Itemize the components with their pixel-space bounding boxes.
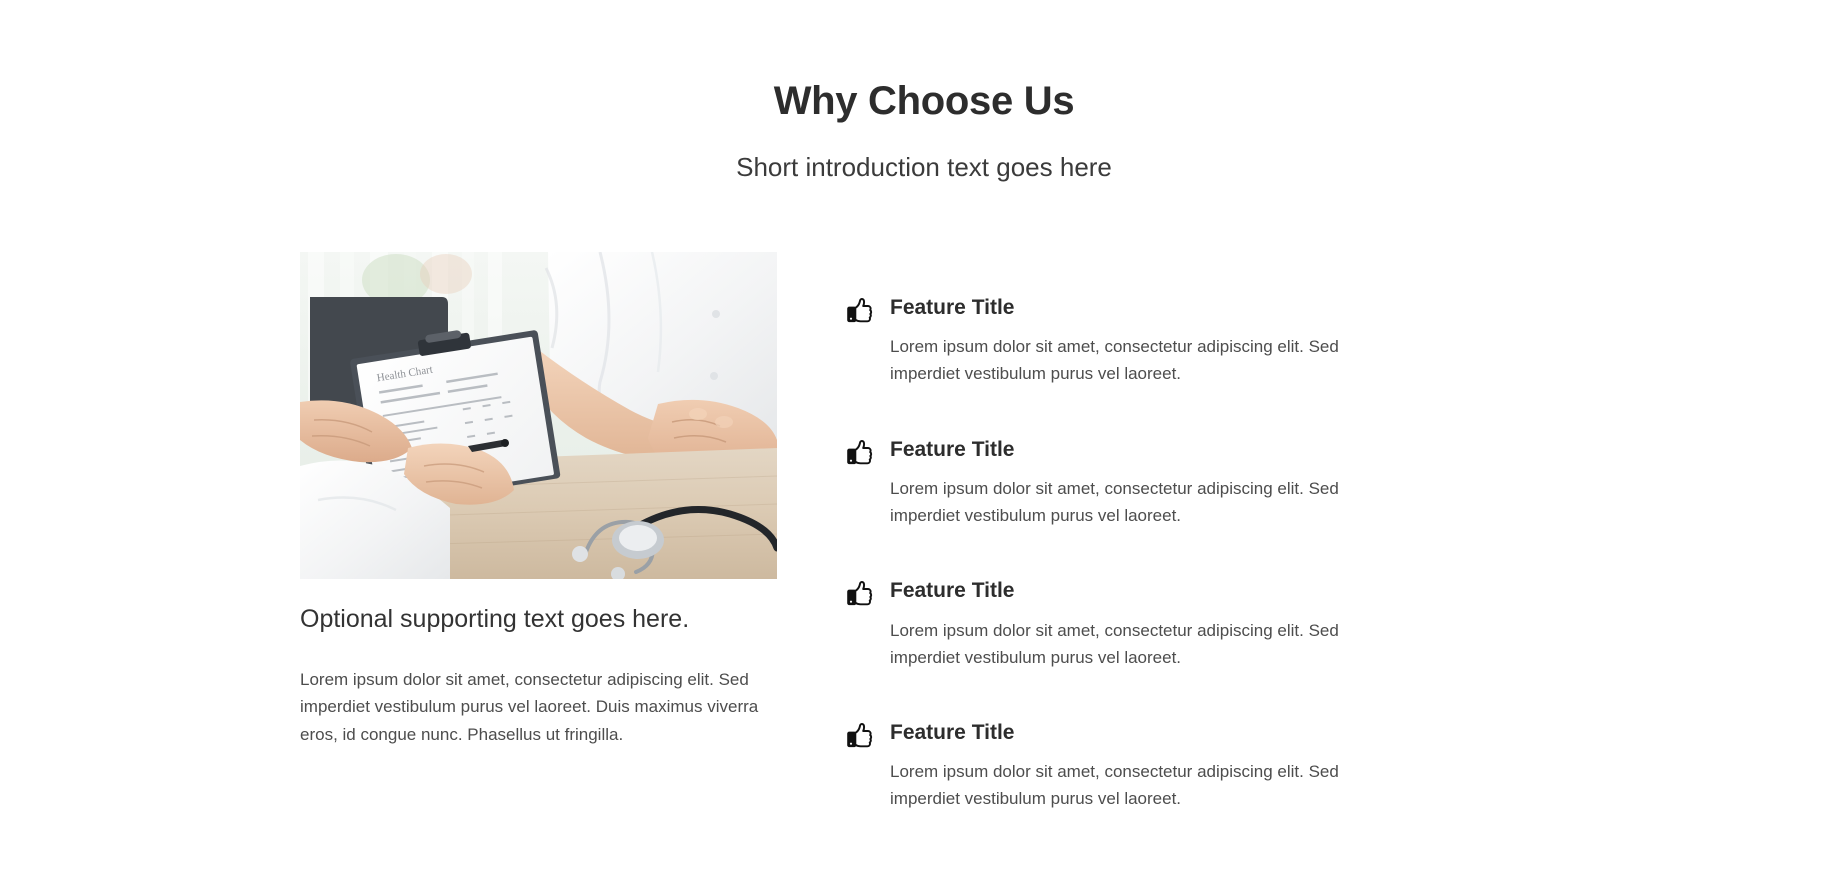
- feature-item: Feature Title Lorem ipsum dolor sit amet…: [845, 720, 1467, 813]
- feature-item: Feature Title Lorem ipsum dolor sit amet…: [845, 295, 1467, 388]
- thumbs-up-icon: [845, 296, 875, 326]
- feature-text: Feature Title Lorem ipsum dolor sit amet…: [890, 295, 1467, 388]
- feature-description: Lorem ipsum dolor sit amet, consectetur …: [890, 617, 1360, 671]
- feature-text: Feature Title Lorem ipsum dolor sit amet…: [890, 578, 1467, 671]
- feature-item: Feature Title Lorem ipsum dolor sit amet…: [845, 437, 1467, 530]
- thumbs-up-icon: [845, 721, 875, 751]
- thumbs-up-icon: [845, 579, 875, 609]
- supporting-title: Optional supporting text goes here.: [300, 603, 777, 636]
- feature-title: Feature Title: [890, 437, 1467, 463]
- feature-description: Lorem ipsum dolor sit amet, consectetur …: [890, 333, 1360, 387]
- supporting-body: Lorem ipsum dolor sit amet, consectetur …: [300, 666, 776, 749]
- thumbs-up-icon: [845, 438, 875, 468]
- feature-title: Feature Title: [890, 295, 1467, 321]
- feature-description: Lorem ipsum dolor sit amet, consectetur …: [890, 758, 1360, 812]
- medical-consultation-photo: Health Chart: [300, 252, 777, 579]
- feature-item: Feature Title Lorem ipsum dolor sit amet…: [845, 578, 1467, 671]
- feature-title: Feature Title: [890, 578, 1467, 604]
- page-subtitle: Short introduction text goes here: [0, 151, 1848, 185]
- feature-description: Lorem ipsum dolor sit amet, consectetur …: [890, 475, 1360, 529]
- page-header: Why Choose Us Short introduction text go…: [0, 0, 1848, 185]
- page-title: Why Choose Us: [0, 78, 1848, 124]
- slide-canvas: Why Choose Us Short introduction text go…: [0, 0, 1848, 887]
- feature-text: Feature Title Lorem ipsum dolor sit amet…: [890, 437, 1467, 530]
- photo-artwork: Health Chart: [300, 252, 777, 579]
- feature-list: Feature Title Lorem ipsum dolor sit amet…: [845, 252, 1467, 813]
- feature-title: Feature Title: [890, 720, 1467, 746]
- left-column: Health Chart: [300, 252, 777, 748]
- content-area: Health Chart: [300, 252, 1548, 813]
- feature-text: Feature Title Lorem ipsum dolor sit amet…: [890, 720, 1467, 813]
